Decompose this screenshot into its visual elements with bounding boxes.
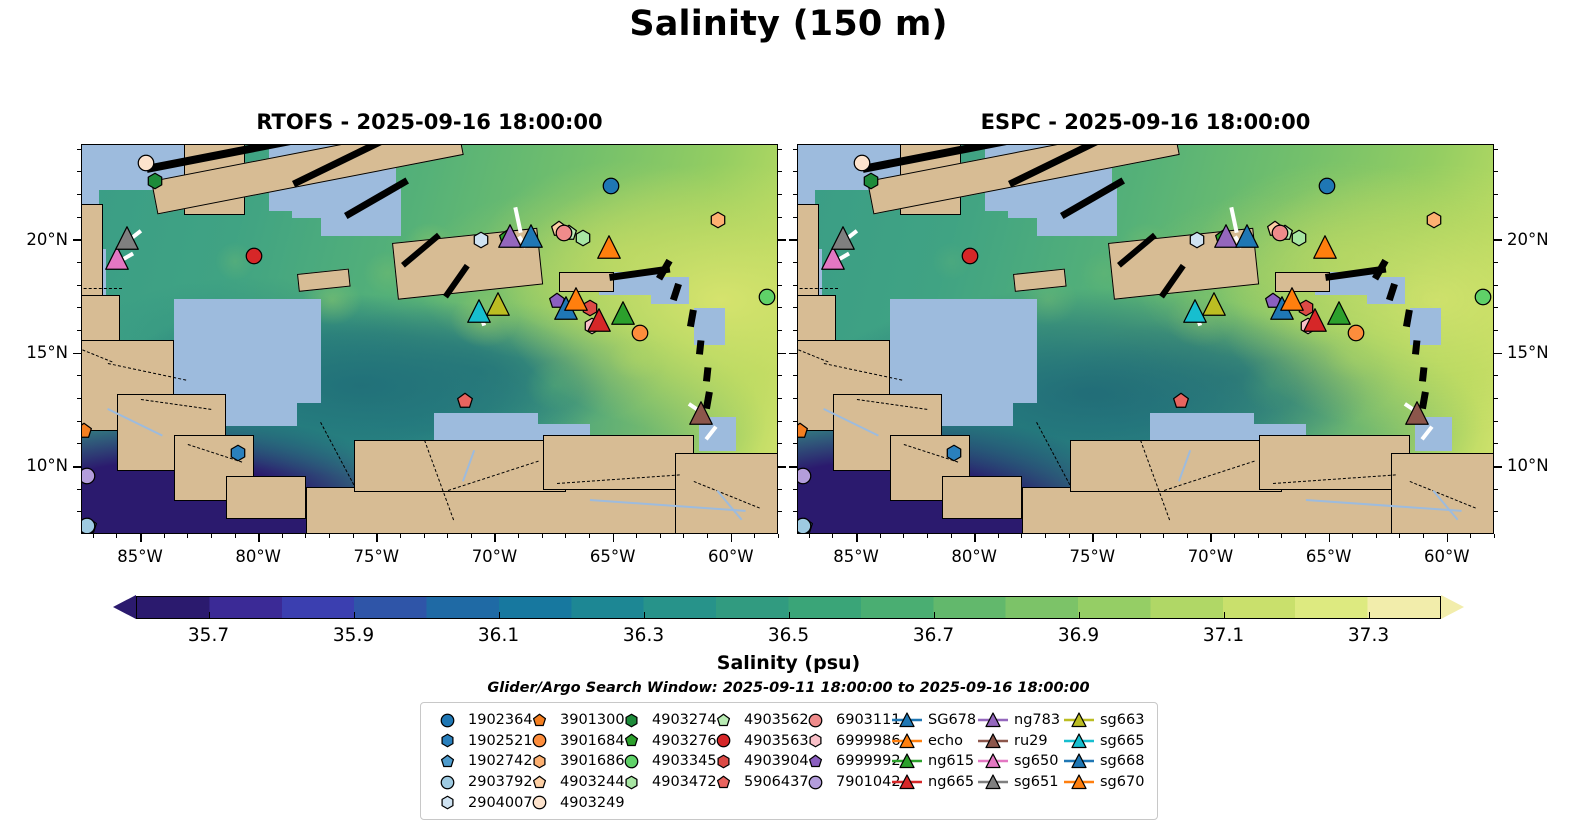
legend-item-2903792[interactable]: 2903792	[430, 772, 522, 793]
glider-symbol-sg663	[1062, 711, 1096, 729]
lon-minor-tick	[832, 534, 833, 538]
argo-symbol-4903472	[614, 775, 648, 790]
legend-column-6: ng783 ru29 sg650 sg651	[976, 710, 1062, 813]
lon-minor-tick	[927, 534, 928, 538]
legend-column-2: 4903274490327649033454903472	[614, 710, 706, 813]
argo-marker-7901042[interactable]	[82, 467, 96, 485]
colorbar-tick-label-7: 37.1	[1203, 625, 1244, 646]
legend-column-0: 19023641902521190274229037922904007	[430, 710, 522, 813]
glider-symbol-ru29	[976, 732, 1010, 750]
argo-symbol-4903249	[522, 795, 556, 810]
glider-marker-sg670[interactable]	[596, 235, 621, 260]
lat-minor-tick	[1494, 194, 1498, 195]
argo-symbol-4903562	[706, 713, 740, 728]
lon-major-tick	[258, 534, 260, 542]
legend-item-3901684[interactable]: 3901684	[522, 731, 614, 752]
argo-symbol-2903792	[430, 775, 464, 790]
country-border	[798, 288, 838, 289]
legend-item-1902521[interactable]: 1902521	[430, 731, 522, 752]
argo-marker-3901300[interactable]	[798, 422, 809, 440]
lon-minor-tick	[660, 534, 661, 538]
lon-major-tick	[376, 534, 378, 542]
lon-minor-tick	[565, 534, 566, 538]
glider-marker-sg668[interactable]	[1234, 223, 1259, 248]
lon-minor-tick	[1258, 534, 1259, 538]
lon-minor-tick	[93, 534, 94, 538]
lat-minor-tick	[77, 285, 81, 286]
lat-minor-tick	[793, 285, 797, 286]
lat-minor-tick	[77, 149, 81, 150]
argo-marker-4903563[interactable]	[961, 247, 979, 265]
argo-marker-4903563[interactable]	[245, 247, 263, 265]
lon-tick-label-5: 60°W	[1424, 547, 1470, 566]
glider-marker-ng615[interactable]	[611, 300, 636, 325]
legend-item-4903249[interactable]: 4903249	[522, 792, 614, 813]
argo-marker-2904007[interactable]	[472, 231, 490, 249]
lat-minor-tick	[778, 285, 782, 286]
glider-symbol-sg651	[976, 773, 1010, 791]
continental-shelf	[1367, 277, 1405, 304]
argo-marker-3901684[interactable]	[1347, 324, 1365, 342]
legend-item-6999992[interactable]: 6999992	[798, 751, 890, 772]
landmass	[354, 440, 567, 492]
colorbar-extend-min	[113, 595, 136, 619]
lat-minor-tick	[778, 375, 782, 376]
country-border	[82, 288, 122, 289]
lat-minor-tick	[77, 330, 81, 331]
lat-minor-tick	[77, 489, 81, 490]
lat-minor-tick	[778, 443, 782, 444]
lon-major-tick	[613, 534, 615, 542]
lat-minor-tick	[778, 421, 782, 422]
legend-item-3901300[interactable]: 3901300	[522, 710, 614, 731]
legend-column-3: 4903562490356349039045906437	[706, 710, 798, 813]
glider-symbol-echo	[890, 732, 924, 750]
colorbar-tick-label-4: 36.5	[768, 625, 809, 646]
lat-major-tick	[778, 466, 786, 468]
colorbar-tick-label-1: 35.9	[333, 625, 374, 646]
argo-marker-1902364[interactable]	[602, 177, 620, 195]
glider-marker-sg670[interactable]	[1312, 235, 1337, 260]
lon-minor-tick	[1352, 534, 1353, 538]
colorbar-extend-max	[1441, 595, 1464, 619]
lat-minor-tick	[1494, 217, 1498, 218]
glider-marker-ru29[interactable]	[689, 400, 714, 425]
argo-symbol-4903274	[614, 713, 648, 728]
argo-symbol-3901684	[522, 733, 556, 748]
lat-minor-tick	[1494, 262, 1498, 263]
lon-tick-label-1: 80°W	[951, 547, 997, 566]
lon-minor-tick	[707, 534, 708, 538]
lon-minor-tick	[1021, 534, 1022, 538]
argo-symbol-4903904	[706, 754, 740, 769]
lat-minor-tick	[793, 375, 797, 376]
figure: Salinity (150 m) RTOFS - 2025-09-16 18:0…	[0, 0, 1577, 828]
colorbar-tick-label-0: 35.7	[188, 625, 229, 646]
legend-item-sg665[interactable]: sg665	[1062, 731, 1148, 752]
legend-item-7901042[interactable]: 7901042	[798, 772, 890, 793]
lon-minor-tick	[636, 534, 637, 538]
lat-minor-tick	[77, 398, 81, 399]
colorbar-tick-label-5: 36.7	[913, 625, 954, 646]
glider-marker-sg665[interactable]	[1182, 298, 1207, 323]
lon-minor-tick	[1470, 534, 1471, 538]
lat-minor-tick	[1494, 489, 1498, 490]
colorbar-tick	[789, 612, 790, 619]
legend-item-4903562[interactable]: 4903562	[706, 710, 798, 731]
lon-minor-tick	[518, 534, 519, 538]
lat-minor-tick	[77, 375, 81, 376]
lon-minor-tick	[1305, 534, 1306, 538]
lat-major-tick	[73, 239, 81, 241]
legend-item-echo[interactable]: echo	[890, 731, 976, 752]
legend-item-SG678[interactable]: SG678	[890, 710, 976, 731]
legend[interactable]: 1902364190252119027422903792290400739013…	[420, 702, 1158, 820]
lon-minor-tick	[305, 534, 306, 538]
argo-marker-1902364[interactable]	[1318, 177, 1336, 195]
glider-symbol-sg650	[976, 752, 1010, 770]
glider-symbol-sg670	[1062, 773, 1096, 791]
lon-minor-tick	[1163, 534, 1164, 538]
legend-label: sg663	[1096, 712, 1144, 728]
legend-label: sg651	[1010, 774, 1058, 790]
argo-marker-1902521[interactable]	[945, 444, 963, 462]
lon-tick-label-0: 85°W	[117, 547, 163, 566]
argo-symbol-5906437	[706, 775, 740, 790]
lon-tick-label-2: 75°W	[354, 547, 400, 566]
glider-marker-sg668[interactable]	[518, 223, 543, 248]
argo-symbol-1902521	[430, 733, 464, 748]
lat-major-tick	[778, 353, 786, 355]
legend-item-sg650[interactable]: sg650	[976, 751, 1062, 772]
lat-minor-tick	[793, 217, 797, 218]
lat-minor-tick	[793, 398, 797, 399]
legend-label: ng783	[1010, 712, 1060, 728]
legend-item-6999986[interactable]: 6999986	[798, 731, 890, 752]
legend-item-ng665[interactable]: ng665	[890, 772, 976, 793]
colorbar-tick	[1224, 612, 1225, 619]
landmass	[1070, 440, 1283, 492]
legend-label: sg670	[1096, 774, 1144, 790]
argo-marker-4903249[interactable]	[137, 154, 155, 172]
argo-symbol-4903563	[706, 733, 740, 748]
lat-major-tick	[789, 466, 797, 468]
landmass	[226, 476, 306, 519]
lon-minor-tick	[683, 534, 684, 538]
lon-tick-label-2: 75°W	[1070, 547, 1116, 566]
lon-minor-tick	[116, 534, 117, 538]
glider-symbol-ng615	[890, 752, 924, 770]
lat-minor-tick	[77, 443, 81, 444]
lat-major-tick	[778, 239, 786, 241]
glider-marker-ng615[interactable]	[1327, 300, 1352, 325]
lon-major-tick	[1447, 534, 1449, 542]
legend-item-sg668[interactable]: sg668	[1062, 751, 1148, 772]
lon-minor-tick	[903, 534, 904, 538]
argo-symbol-6999986	[798, 733, 832, 748]
argo-marker-2904007[interactable]	[1188, 231, 1206, 249]
lat-minor-tick	[793, 307, 797, 308]
argo-marker-4903345[interactable]	[1474, 288, 1492, 306]
lat-minor-tick	[77, 171, 81, 172]
argo-marker-7901042[interactable]	[798, 467, 812, 485]
lat-minor-tick	[77, 421, 81, 422]
lat-minor-tick	[778, 511, 782, 512]
lon-minor-tick	[1281, 534, 1282, 538]
lon-minor-tick	[1140, 534, 1141, 538]
lat-minor-tick	[1494, 375, 1498, 376]
lat-minor-tick	[1494, 511, 1498, 512]
lat-minor-tick	[778, 307, 782, 308]
legend-label: sg668	[1096, 753, 1144, 769]
lat-minor-tick	[793, 511, 797, 512]
legend-item-5906437[interactable]: 5906437	[706, 772, 798, 793]
legend-label: ng665	[924, 774, 974, 790]
lat-major-tick	[1494, 239, 1502, 241]
lat-minor-tick	[1494, 398, 1498, 399]
lon-minor-tick	[211, 534, 212, 538]
lon-minor-tick	[1399, 534, 1400, 538]
legend-item-sg670[interactable]: sg670	[1062, 772, 1148, 793]
lat-minor-tick	[793, 330, 797, 331]
argo-marker-3901300[interactable]	[82, 422, 93, 440]
lat-minor-tick	[793, 489, 797, 490]
argo-symbol-4903345	[614, 754, 648, 769]
lon-tick-label-5: 60°W	[708, 547, 754, 566]
lon-minor-tick	[400, 534, 401, 538]
lon-minor-tick	[164, 534, 165, 538]
colorbar-tick	[644, 612, 645, 619]
lat-minor-tick	[778, 149, 782, 150]
lon-minor-tick	[754, 534, 755, 538]
lat-minor-tick	[793, 421, 797, 422]
legend-label: sg665	[1096, 733, 1144, 749]
lat-minor-tick	[1494, 149, 1498, 150]
lon-minor-tick	[353, 534, 354, 538]
legend-column-5: SG678 echo ng615 ng665	[890, 710, 976, 813]
argo-marker-3901686[interactable]	[709, 211, 727, 229]
lon-minor-tick	[424, 534, 425, 538]
lat-tick-label-right-2: 20°N	[1507, 230, 1549, 249]
lon-tick-label-0: 85°W	[833, 547, 879, 566]
legend-item-4903244[interactable]: 4903244	[522, 772, 614, 793]
lon-minor-tick	[1069, 534, 1070, 538]
continental-shelf	[651, 277, 689, 304]
glider-symbol-ng665	[890, 773, 924, 791]
lon-minor-tick	[187, 534, 188, 538]
lat-tick-label-right-1: 15°N	[1507, 343, 1549, 362]
legend-column-1: 39013003901684390168649032444903249	[522, 710, 614, 813]
lon-major-tick	[494, 534, 496, 542]
lat-minor-tick	[793, 171, 797, 172]
legend-label: sg650	[1010, 753, 1058, 769]
lon-minor-tick	[1376, 534, 1377, 538]
glider-symbol-SG678	[890, 711, 924, 729]
lat-minor-tick	[793, 262, 797, 263]
lat-minor-tick	[77, 217, 81, 218]
glider-marker-echo[interactable]	[1279, 287, 1304, 312]
legend-label: echo	[924, 733, 963, 749]
lon-minor-tick	[809, 534, 810, 538]
lon-minor-tick	[471, 534, 472, 538]
lat-minor-tick	[1494, 330, 1498, 331]
legend-item-4903276[interactable]: 4903276	[614, 731, 706, 752]
lon-tick-label-4: 65°W	[1306, 547, 1352, 566]
glider-marker-ng665[interactable]	[1303, 307, 1328, 332]
landmass	[942, 476, 1022, 519]
lat-major-tick	[73, 353, 81, 355]
argo-marker-2903792[interactable]	[798, 517, 812, 533]
lat-minor-tick	[1494, 421, 1498, 422]
lat-major-tick	[1494, 353, 1502, 355]
legend-item-4903345[interactable]: 4903345	[614, 751, 706, 772]
lat-minor-tick	[77, 262, 81, 263]
legend-label: SG678	[924, 712, 976, 728]
lon-minor-tick	[1045, 534, 1046, 538]
colorbar-tick	[1079, 612, 1080, 619]
lon-major-tick	[1329, 534, 1331, 542]
lon-minor-tick	[1423, 534, 1424, 538]
argo-symbol-2904007	[430, 795, 464, 810]
lon-minor-tick	[282, 534, 283, 538]
lon-minor-tick	[329, 534, 330, 538]
lat-minor-tick	[1494, 285, 1498, 286]
lon-minor-tick	[998, 534, 999, 538]
lat-minor-tick	[1494, 171, 1498, 172]
lat-minor-tick	[1494, 307, 1498, 308]
lat-tick-label-left-1: 15°N	[26, 343, 68, 362]
argo-symbol-6999992	[798, 754, 832, 769]
legend-item-3901686[interactable]: 3901686	[522, 751, 614, 772]
argo-symbol-4903244	[522, 775, 556, 790]
colorbar-tick	[934, 612, 935, 619]
argo-symbol-3901300	[522, 713, 556, 728]
lon-minor-tick	[778, 534, 779, 538]
lon-minor-tick	[235, 534, 236, 538]
lon-minor-tick	[951, 534, 952, 538]
argo-marker-5906437[interactable]	[1172, 392, 1190, 410]
lat-major-tick	[789, 353, 797, 355]
glider-marker-sg665[interactable]	[466, 298, 491, 323]
argo-marker-3901684[interactable]	[631, 324, 649, 342]
legend-label: ru29	[1010, 733, 1048, 749]
colorbar-tick	[209, 612, 210, 619]
argo-marker-2903792[interactable]	[82, 517, 96, 533]
argo-marker-4903274[interactable]	[146, 172, 164, 190]
lat-tick-label-left-2: 20°N	[26, 230, 68, 249]
colorbar-tick	[499, 612, 500, 619]
legend-column-4: 6903111699998669999927901042	[798, 710, 890, 813]
lon-major-tick	[974, 534, 976, 542]
legend-label: ng615	[924, 753, 974, 769]
lat-minor-tick	[77, 511, 81, 512]
lon-minor-tick	[1116, 534, 1117, 538]
lon-tick-label-4: 65°W	[590, 547, 636, 566]
glider-symbol-sg668	[1062, 752, 1096, 770]
argo-marker-6903111[interactable]	[1271, 224, 1289, 242]
lat-minor-tick	[793, 194, 797, 195]
lat-tick-label-right-0: 10°N	[1507, 456, 1549, 475]
argo-marker-5906437[interactable]	[456, 392, 474, 410]
glider-marker-echo[interactable]	[563, 287, 588, 312]
map-panel-espc[interactable]	[797, 144, 1494, 534]
argo-marker-6903111[interactable]	[555, 224, 573, 242]
glider-marker-sg651[interactable]	[114, 225, 139, 250]
legend-item-1902364[interactable]: 1902364	[430, 710, 522, 731]
glider-marker-ru29[interactable]	[1405, 400, 1430, 425]
argo-symbol-1902742	[430, 754, 464, 769]
lat-minor-tick	[778, 398, 782, 399]
colorbar-tick-label-6: 36.9	[1058, 625, 1099, 646]
argo-marker-3901686[interactable]	[1425, 211, 1443, 229]
legend-item-4903904[interactable]: 4903904	[706, 751, 798, 772]
panel-title-espc: ESPC - 2025-09-16 18:00:00	[797, 110, 1494, 134]
legend-item-ng783[interactable]: ng783	[976, 710, 1062, 731]
glider-marker-ng665[interactable]	[587, 307, 612, 332]
lon-major-tick	[856, 534, 858, 542]
legend-item-sg663[interactable]: sg663	[1062, 710, 1148, 731]
lon-tick-label-3: 70°W	[1188, 547, 1234, 566]
legend-item-sg651[interactable]: sg651	[976, 772, 1062, 793]
legend-item-4903274[interactable]: 4903274	[614, 710, 706, 731]
argo-marker-4903345[interactable]	[758, 288, 776, 306]
lat-minor-tick	[778, 489, 782, 490]
lat-minor-tick	[778, 194, 782, 195]
glider-symbol-sg665	[1062, 732, 1096, 750]
lon-major-tick	[731, 534, 733, 542]
lat-minor-tick	[778, 217, 782, 218]
argo-symbol-7901042	[798, 775, 832, 790]
lat-tick-label-left-0: 10°N	[26, 456, 68, 475]
lat-major-tick	[73, 466, 81, 468]
lon-minor-tick	[1234, 534, 1235, 538]
colorbar-tick	[354, 612, 355, 619]
argo-symbol-1902364	[430, 713, 464, 728]
lon-major-tick	[140, 534, 142, 542]
legend-item-ng615[interactable]: ng615	[890, 751, 976, 772]
lat-minor-tick	[793, 443, 797, 444]
colorbar-tick-label-3: 36.3	[623, 625, 664, 646]
argo-symbol-3901686	[522, 754, 556, 769]
lon-minor-tick	[1187, 534, 1188, 538]
legend-item-ru29[interactable]: ru29	[976, 731, 1062, 752]
colorbar-tick-label-8: 37.3	[1348, 625, 1389, 646]
lon-major-tick	[1092, 534, 1094, 542]
legend-item-4903563[interactable]: 4903563	[706, 731, 798, 752]
colorbar-tick	[1369, 612, 1370, 619]
legend-item-4903472[interactable]: 4903472	[614, 772, 706, 793]
argo-marker-1902521[interactable]	[229, 444, 247, 462]
legend-item-6903111[interactable]: 6903111	[798, 710, 890, 731]
lon-minor-tick	[447, 534, 448, 538]
map-panel-rtofs[interactable]	[81, 144, 778, 534]
legend-item-2904007[interactable]: 2904007	[430, 792, 522, 813]
colorbar-tick-label-2: 36.1	[478, 625, 519, 646]
glider-marker-sg651[interactable]	[830, 225, 855, 250]
glider-symbol-ng783	[976, 711, 1010, 729]
page-title: Salinity (150 m)	[0, 4, 1577, 44]
lon-minor-tick	[589, 534, 590, 538]
argo-symbol-6903111	[798, 713, 832, 728]
argo-marker-4903274[interactable]	[862, 172, 880, 190]
argo-symbol-4903276	[614, 733, 648, 748]
argo-marker-4903249[interactable]	[853, 154, 871, 172]
lat-major-tick	[1494, 466, 1502, 468]
lat-minor-tick	[77, 307, 81, 308]
lat-minor-tick	[77, 194, 81, 195]
colorbar-label: Salinity (psu)	[0, 652, 1577, 674]
legend-item-1902742[interactable]: 1902742	[430, 751, 522, 772]
